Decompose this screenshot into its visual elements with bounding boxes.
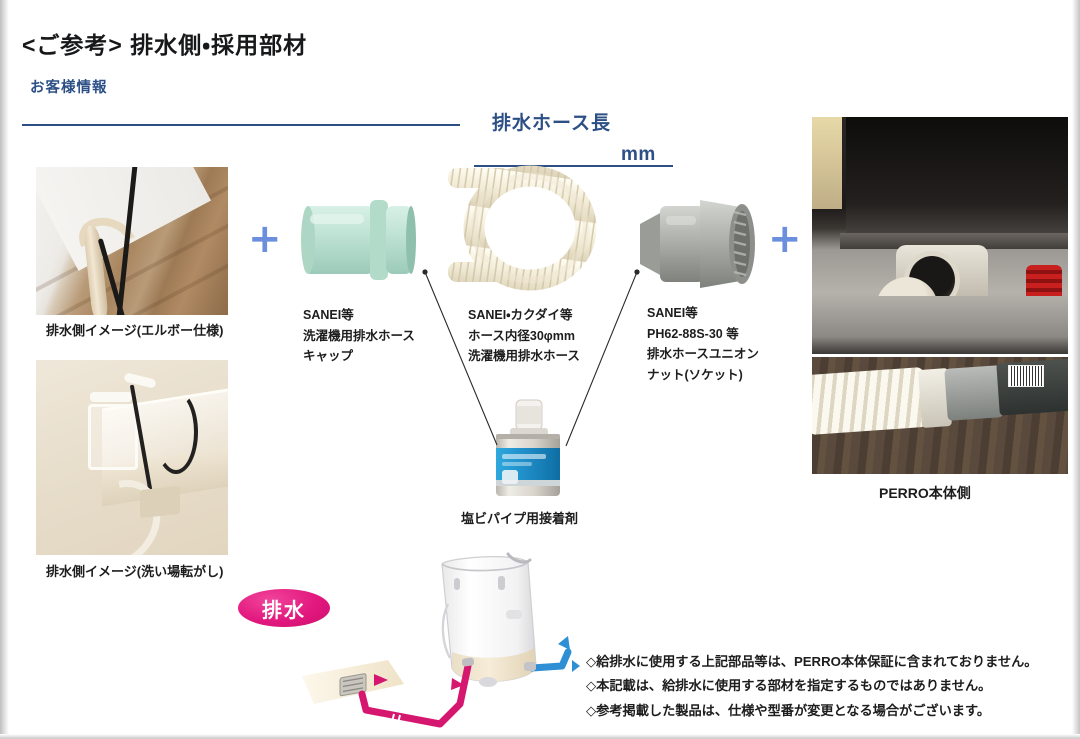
drain-pan	[140, 486, 180, 518]
washing-machine-drain-hose-image	[448, 162, 604, 292]
plus-icon-2: +	[768, 219, 802, 259]
drain-bathroom-photo	[36, 360, 228, 555]
note-line-2: ◇本記載は、給排水に使用する部材を指定するものではありません。	[586, 674, 1037, 698]
perro-hose-connection-photo	[812, 357, 1068, 474]
washing-machine-drain-hose-cap-image	[300, 192, 416, 288]
pvc-adhesive-can-image	[492, 398, 564, 502]
part-label-cap-line-2: 洗濯機用排水ホース	[303, 326, 415, 347]
concrete-floor	[812, 296, 1068, 354]
faucet	[90, 392, 132, 402]
drain-elbow-photo	[36, 167, 228, 315]
note-line-1: ◇給排水に使用する上記部品等は、PERRO本体保証に含まれておりません。	[586, 650, 1037, 674]
hose-length-unit: mm	[621, 144, 656, 166]
hose-length-label: 排水ホース長	[492, 108, 611, 135]
perro-photo-caption: PERRO本体側	[879, 483, 971, 503]
part-label-union-nut-line-3: 排水ホースユニオン	[647, 344, 759, 365]
plus-icon-1: +	[248, 219, 282, 259]
part-label-hose-line-2: ホース内径30φmm	[468, 326, 580, 347]
corrugated-drain-hose	[812, 367, 928, 435]
part-label-hose: SANEI・カクダイ等 ホース内径30φmm 洗濯機用排水ホース	[468, 305, 580, 367]
perro-underside-photo	[812, 117, 1068, 354]
notes-block: ◇給排水に使用する上記部品等は、PERRO本体保証に含まれておりません。 ◇本記…	[586, 650, 1037, 723]
part-label-hose-line-3: 洗濯機用排水ホース	[468, 346, 580, 367]
part-label-union-nut: SANEI等 PH62-88S-30 等 排水ホースユニオン ナット(ソケット)	[647, 303, 759, 386]
customer-info-underline	[22, 124, 460, 126]
drain-elbow-photo-caption: 排水側イメージ(エルボー仕様)	[46, 320, 223, 339]
shower-hose-curve	[154, 390, 198, 474]
part-label-hose-line-1: SANEI・カクダイ等	[468, 305, 580, 326]
page-title: <ご参考> 排水側・採用部材	[22, 26, 307, 60]
part-label-union-nut-line-4: ナット(ソケット)	[647, 365, 759, 386]
background-window	[812, 117, 842, 209]
machine-body	[846, 117, 1068, 239]
drain-routing-illustration	[300, 548, 590, 736]
note-line-3: ◇参考掲載した製品は、仕様や型番が変更となる場合がございます。	[586, 699, 1037, 723]
part-label-cap-line-1: SANEI等	[303, 305, 415, 326]
faucet-shelf	[88, 404, 138, 470]
union-nut-fitting	[944, 365, 1003, 421]
pvc-adhesive-caption: 塩ビパイプ用接着剤	[461, 508, 578, 527]
drain-hose-union-nut-image	[638, 196, 756, 292]
part-label-union-nut-line-1: SANEI等	[647, 303, 759, 324]
part-label-union-nut-line-2: PH62-88S-30 等	[647, 324, 759, 345]
document-page: <ご参考> 排水側・採用部材 お客様情報 排水ホース長 mm + + 排水側イメ…	[0, 0, 1080, 739]
customer-info-label: お客様情報	[30, 76, 108, 97]
part-label-cap-line-3: キャップ	[303, 346, 415, 367]
barcode-sticker	[1008, 365, 1044, 387]
page-edge-right	[1072, 0, 1080, 739]
part-label-cap: SANEI等 洗濯機用排水ホース キャップ	[303, 305, 415, 367]
page-edge-left	[0, 0, 9, 739]
drain-bathroom-photo-caption: 排水側イメージ(洗い場転がし)	[46, 561, 223, 580]
